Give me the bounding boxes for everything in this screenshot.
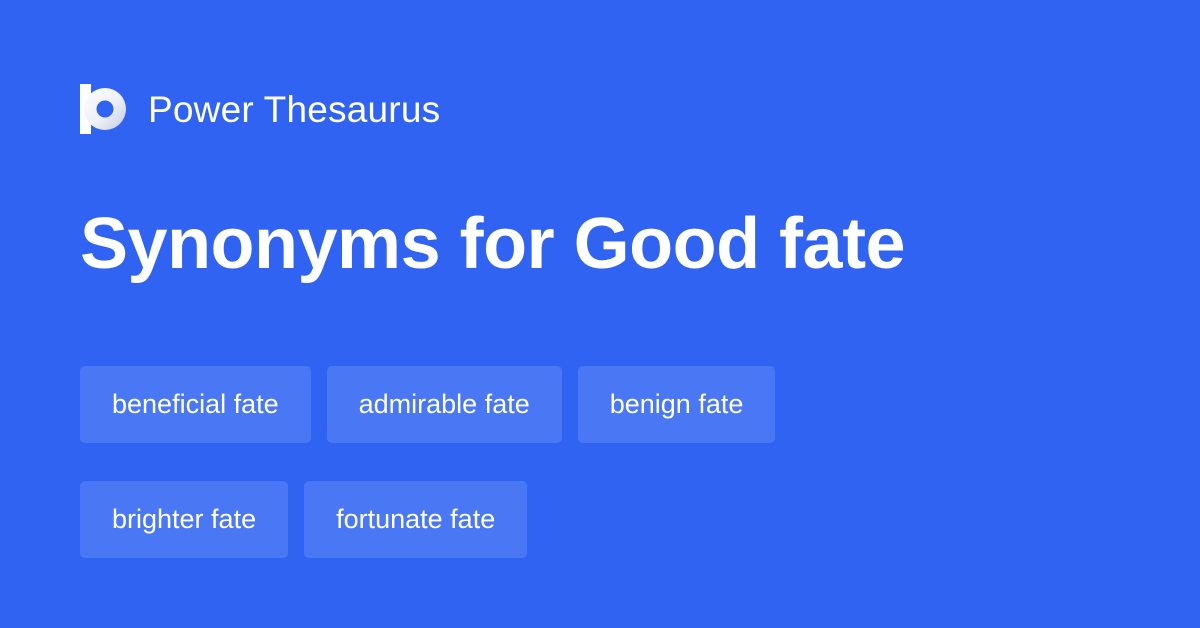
synonym-chip-list: beneficial fate admirable fate benign fa… bbox=[80, 366, 1120, 558]
power-thesaurus-b-logo-icon bbox=[80, 84, 126, 134]
synonym-chip[interactable]: brighter fate bbox=[80, 481, 288, 558]
brand-header[interactable]: Power Thesaurus bbox=[80, 80, 440, 138]
synonym-chip[interactable]: benign fate bbox=[578, 366, 776, 443]
share-card: Power Thesaurus Synonyms for Good fate b… bbox=[0, 0, 1200, 628]
synonym-chip[interactable]: fortunate fate bbox=[304, 481, 527, 558]
synonym-chip[interactable]: admirable fate bbox=[327, 366, 562, 443]
synonym-chip[interactable]: beneficial fate bbox=[80, 366, 311, 443]
page-title: Synonyms for Good fate bbox=[80, 196, 905, 292]
brand-name: Power Thesaurus bbox=[148, 91, 440, 128]
